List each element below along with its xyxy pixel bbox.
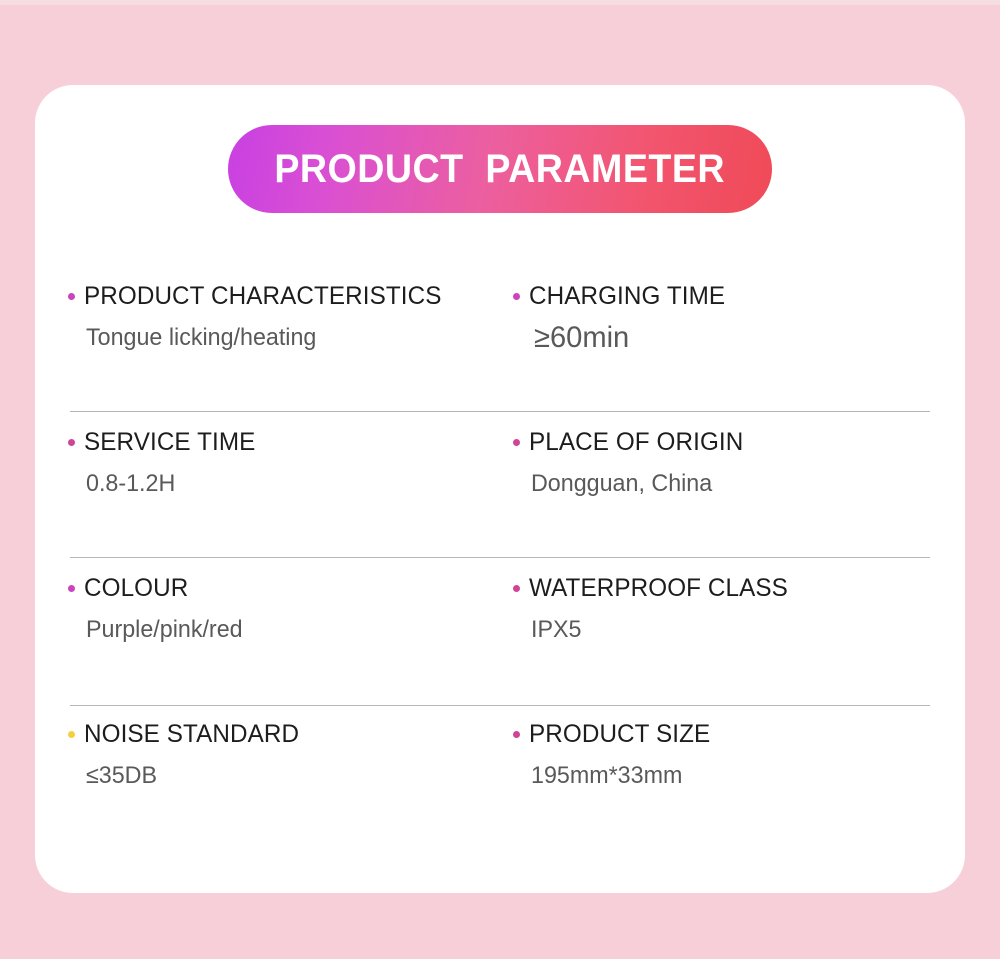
parameter-card: PRODUCT PARAMETER PRODUCT CHARACTERISTIC… [35,85,965,893]
specification-grid: PRODUCT CHARACTERISTICS Tongue licking/h… [35,265,965,849]
spec-label-line: WATERPROOF CLASS [513,571,943,605]
spec-row: PRODUCT CHARACTERISTICS Tongue licking/h… [35,265,965,411]
spec-value: Dongguan, China [531,470,931,498]
spec-item-service-time: SERVICE TIME 0.8-1.2H [68,425,498,498]
spec-label: PRODUCT SIZE [529,720,710,749]
spec-value: Tongue licking/heating [86,324,486,352]
spec-label: COLOUR [84,574,188,603]
bullet-dot-icon [68,293,75,300]
spec-label-line: NOISE STANDARD [68,717,498,751]
spec-label: CHARGING TIME [529,282,725,311]
top-edge-strip [0,0,1000,5]
bullet-dot-icon [513,293,520,300]
bullet-dot-icon [513,585,520,592]
page-title: PRODUCT PARAMETER [275,147,726,192]
spec-value: 195mm*33mm [531,762,931,790]
spec-value: ≥60min [534,321,931,355]
spec-item-product-size: PRODUCT SIZE 195mm*33mm [513,717,943,790]
spec-label: PRODUCT CHARACTERISTICS [84,282,441,311]
spec-row: SERVICE TIME 0.8-1.2H PLACE OF ORIGIN Do… [35,411,965,557]
spec-item-product-characteristics: PRODUCT CHARACTERISTICS Tongue licking/h… [68,279,498,352]
spec-label-line: SERVICE TIME [68,425,498,459]
spec-item-charging-time: CHARGING TIME ≥60min [513,279,943,355]
spec-label-line: COLOUR [68,571,498,605]
spec-label: SERVICE TIME [84,428,255,457]
spec-item-colour: COLOUR Purple/pink/red [68,571,498,644]
spec-label: WATERPROOF CLASS [529,574,788,603]
bullet-dot-icon [68,439,75,446]
bullet-dot-icon [68,731,75,738]
spec-row: NOISE STANDARD ≤35DB PRODUCT SIZE 195mm*… [35,703,965,849]
spec-label-line: PLACE OF ORIGIN [513,425,943,459]
title-badge: PRODUCT PARAMETER [228,125,772,213]
spec-item-place-of-origin: PLACE OF ORIGIN Dongguan, China [513,425,943,498]
spec-value: IPX5 [531,616,931,644]
bullet-dot-icon [513,439,520,446]
spec-row: COLOUR Purple/pink/red WATERPROOF CLASS … [35,557,965,703]
spec-label: NOISE STANDARD [84,720,299,749]
spec-item-noise-standard: NOISE STANDARD ≤35DB [68,717,498,790]
spec-item-waterproof-class: WATERPROOF CLASS IPX5 [513,571,943,644]
spec-label-line: CHARGING TIME [513,279,943,313]
infographic-page: PRODUCT PARAMETER PRODUCT CHARACTERISTIC… [0,0,1000,959]
spec-value: Purple/pink/red [86,616,486,644]
bullet-dot-icon [68,585,75,592]
spec-label: PLACE OF ORIGIN [529,428,743,457]
spec-label-line: PRODUCT SIZE [513,717,943,751]
bullet-dot-icon [513,731,520,738]
spec-value: ≤35DB [86,762,486,790]
spec-label-line: PRODUCT CHARACTERISTICS [68,279,498,313]
spec-value: 0.8-1.2H [86,470,486,498]
